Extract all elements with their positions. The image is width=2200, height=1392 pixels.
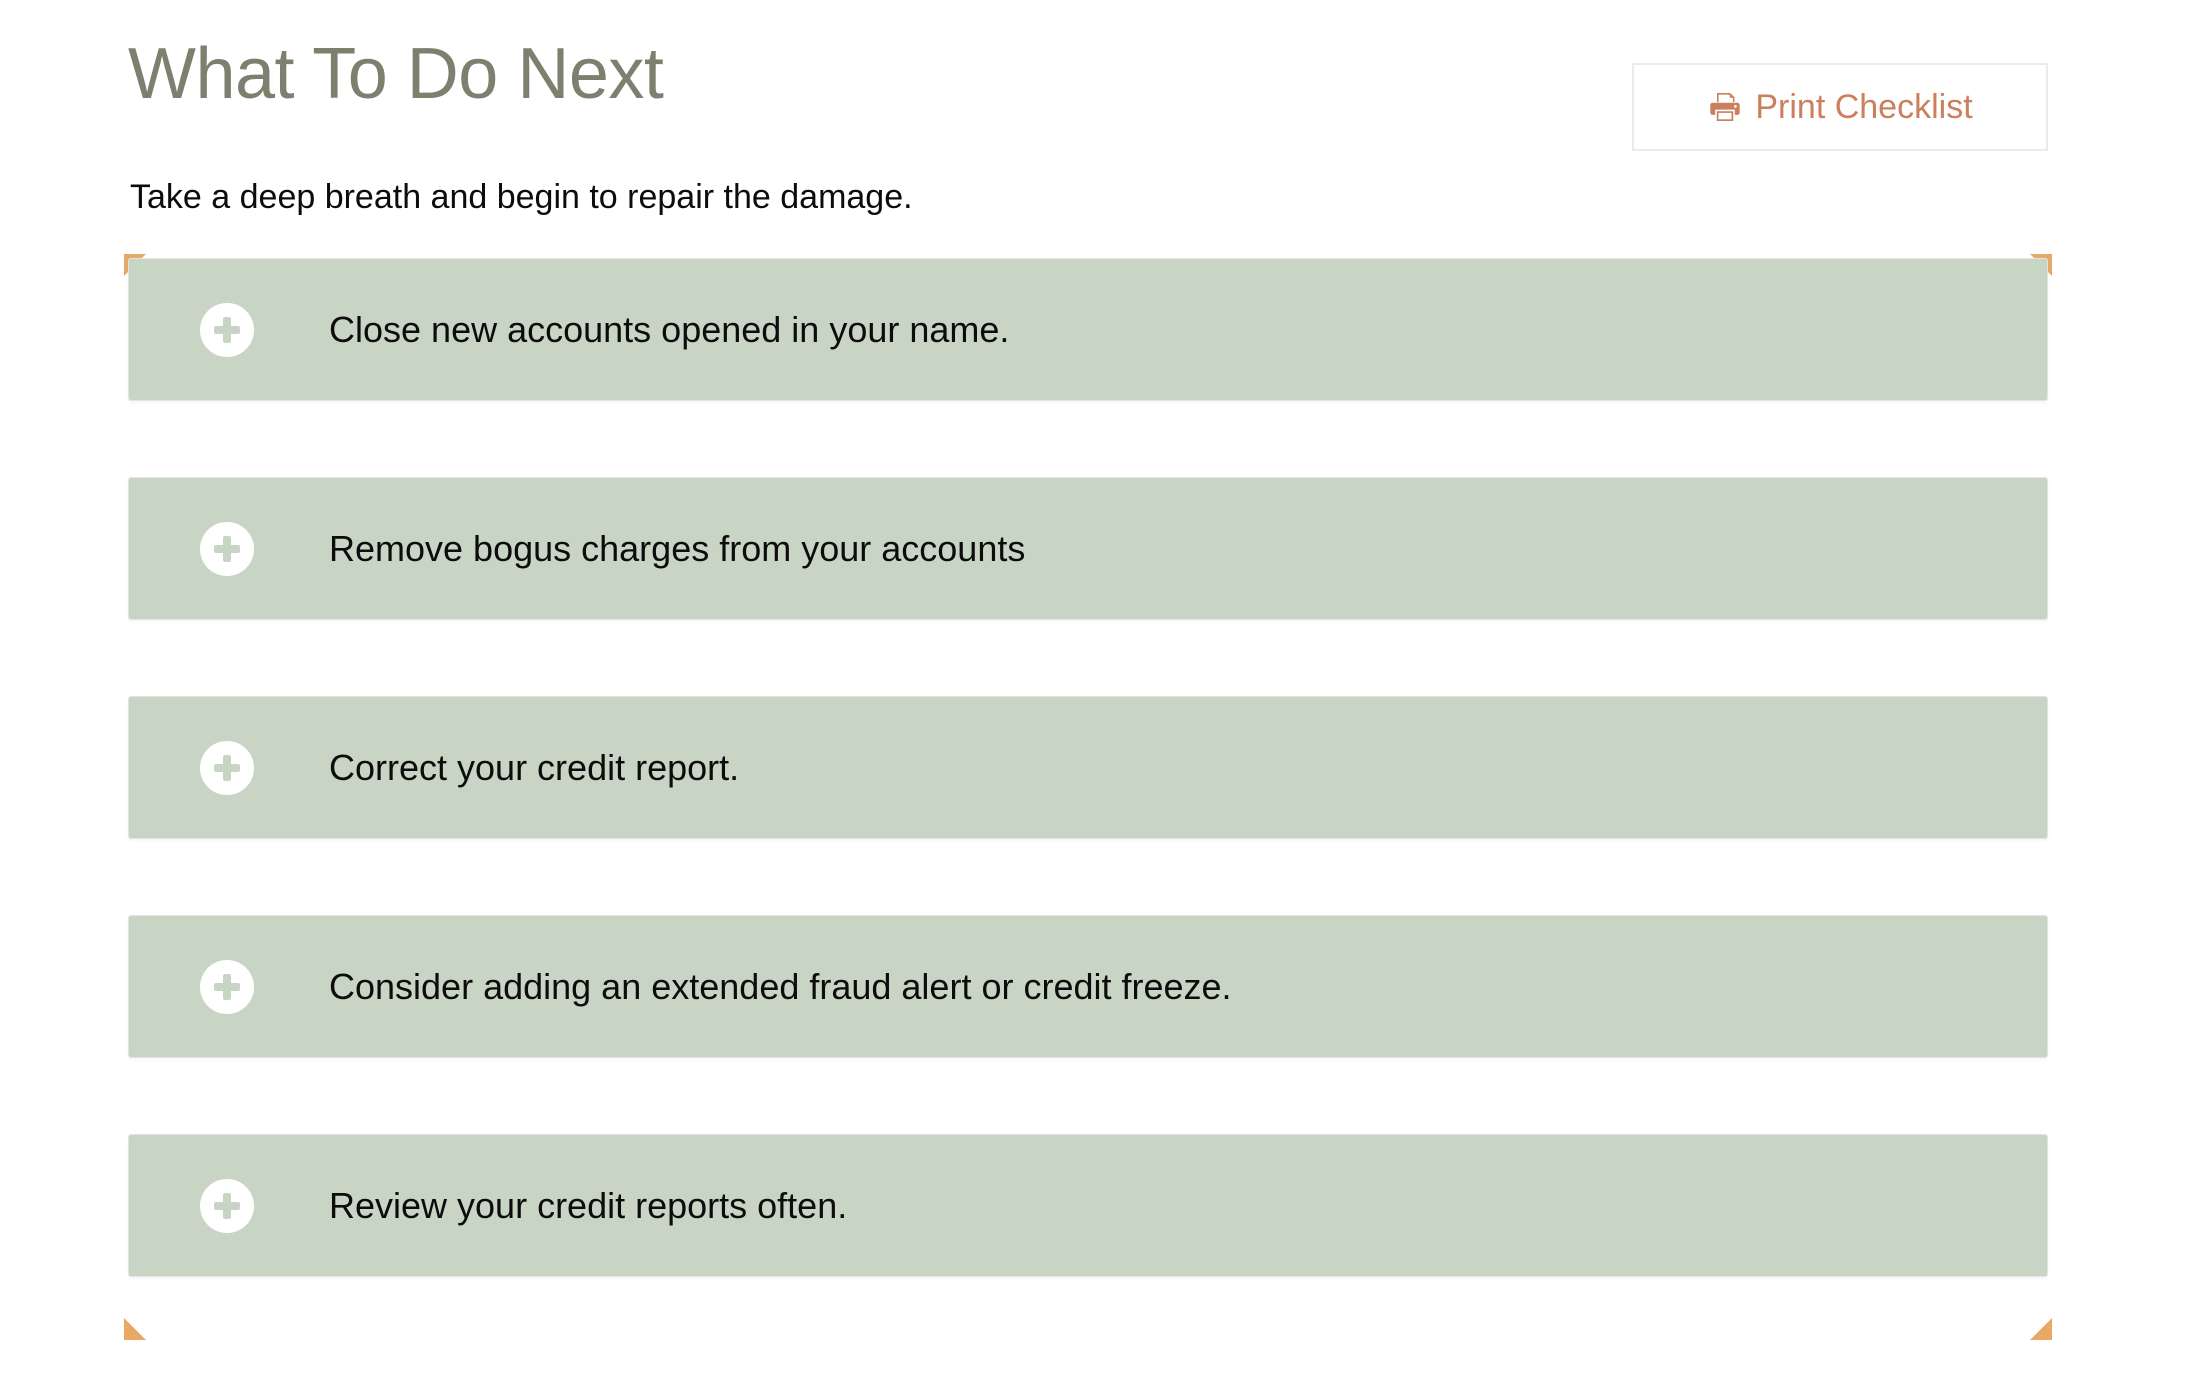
- corner-mark-bottom-left: [124, 1318, 146, 1340]
- checklist-accordion: Close new accounts opened in your name. …: [128, 258, 2048, 1336]
- plus-circle-icon[interactable]: [200, 960, 254, 1014]
- printer-icon: [1707, 89, 1743, 125]
- accordion-item[interactable]: Consider adding an extended fraud alert …: [128, 915, 2048, 1058]
- accordion-item[interactable]: Correct your credit report.: [128, 696, 2048, 839]
- page-title: What To Do Next: [128, 34, 663, 115]
- accordion-item[interactable]: Review your credit reports often.: [128, 1134, 2048, 1277]
- accordion-item[interactable]: Remove bogus charges from your accounts: [128, 477, 2048, 620]
- plus-circle-icon[interactable]: [200, 522, 254, 576]
- page-subtitle: Take a deep breath and begin to repair t…: [130, 176, 913, 219]
- page-root: What To Do Next Take a deep breath and b…: [0, 0, 2200, 1392]
- plus-circle-icon[interactable]: [200, 1179, 254, 1233]
- accordion-item-label: Correct your credit report.: [329, 746, 739, 789]
- accordion-item-label: Review your credit reports often.: [329, 1184, 847, 1227]
- accordion-item-label: Remove bogus charges from your accounts: [329, 527, 1025, 570]
- print-checklist-button[interactable]: Print Checklist: [1632, 63, 2048, 151]
- corner-mark-bottom-right: [2030, 1318, 2052, 1340]
- print-checklist-label: Print Checklist: [1755, 90, 1972, 124]
- plus-circle-icon[interactable]: [200, 303, 254, 357]
- plus-circle-icon[interactable]: [200, 741, 254, 795]
- accordion-item[interactable]: Close new accounts opened in your name.: [128, 258, 2048, 401]
- accordion-item-label: Consider adding an extended fraud alert …: [329, 965, 1232, 1008]
- accordion-item-label: Close new accounts opened in your name.: [329, 308, 1009, 351]
